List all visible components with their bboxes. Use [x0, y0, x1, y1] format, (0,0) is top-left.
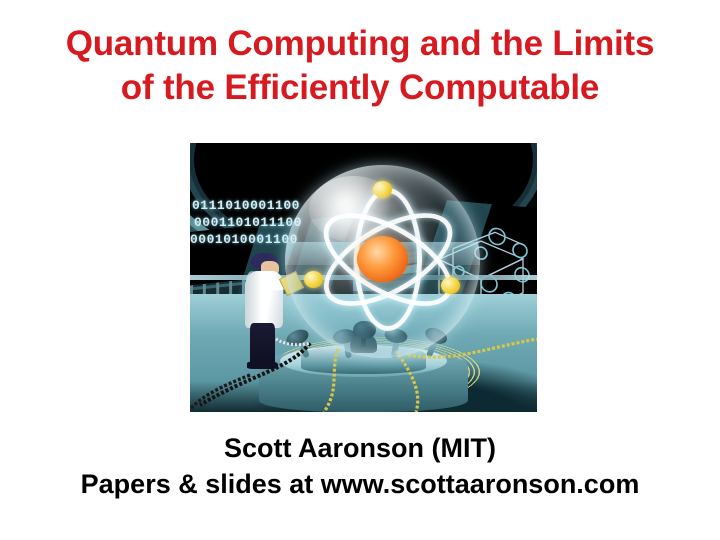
scientist-coat-shading [245, 271, 262, 327]
scientist-legs [250, 323, 275, 366]
author-line: Scott Aaronson (MIT) [0, 430, 720, 466]
title-line-1: Quantum Computing and the Limits [0, 22, 720, 66]
binary-row-1: 0111010001100 [192, 197, 302, 214]
website-line: Papers & slides at www.scottaaronson.com [0, 466, 720, 502]
scientist-shoe [247, 361, 277, 369]
electron-particle [304, 271, 323, 288]
binary-row-2: 0001101011100 [194, 214, 302, 231]
binary-code-display: 0111010001100 0001101011100 000101000110… [192, 197, 302, 248]
sphere-highlight [309, 176, 398, 242]
quantum-lab-illustration: 0111010001100 0001101011100 000101000110… [190, 143, 537, 412]
title-line-2: of the Efficiently Computable [0, 66, 720, 110]
page-title: Quantum Computing and the Limits of the … [0, 22, 720, 110]
slide: Quantum Computing and the Limits of the … [0, 0, 720, 540]
electron-particle [441, 277, 460, 294]
glass-sphere [285, 165, 479, 359]
atom-nucleus [357, 236, 408, 282]
subtitle: Scott Aaronson (MIT) Papers & slides at … [0, 430, 720, 502]
